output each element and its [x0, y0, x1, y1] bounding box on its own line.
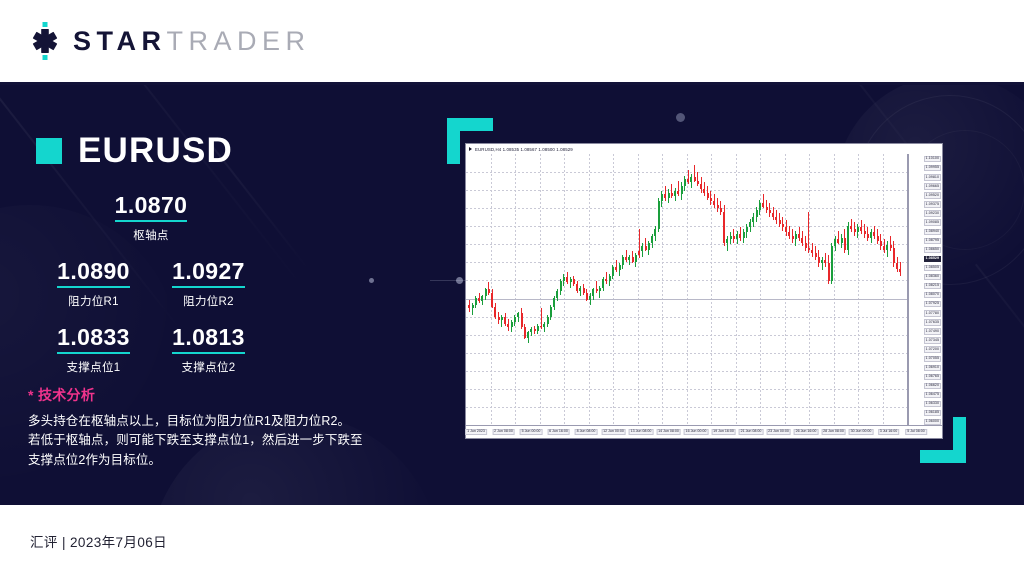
candlestick: [870, 154, 872, 425]
candlestick-body: [602, 279, 604, 288]
candlestick-body: [759, 203, 761, 210]
candlestick: [468, 154, 470, 425]
chart-price-tick: 1.08215: [924, 283, 941, 289]
level-support1: 1.0833 支撑点位1: [36, 325, 151, 375]
candlestick: [664, 154, 666, 425]
candlestick: [566, 154, 568, 425]
candlestick: [723, 154, 725, 425]
chart-price-tick: 1.08360: [924, 274, 941, 280]
chart-price-tick: 1.07345: [924, 337, 941, 343]
candlestick: [834, 154, 836, 425]
candlestick: [573, 154, 575, 425]
candlestick-body: [873, 232, 875, 235]
candlestick: [775, 154, 777, 425]
candlestick-body: [694, 177, 696, 180]
candlestick-body: [605, 279, 607, 281]
candlestick-body: [521, 313, 523, 327]
candlestick-body: [609, 276, 611, 281]
page-header: STARTRADER: [0, 0, 1024, 82]
candlestick-body: [641, 246, 643, 251]
candlestick-body: [730, 236, 732, 239]
candlestick: [498, 154, 500, 425]
candlestick-body: [837, 239, 839, 242]
candlestick: [625, 154, 627, 425]
level-resistance1: 1.0890 阻力位R1: [36, 259, 151, 309]
candlestick: [570, 154, 572, 425]
candlestick-body: [749, 222, 751, 227]
candlestick-body: [847, 226, 849, 250]
candlestick-body: [674, 191, 676, 196]
candlestick: [534, 154, 536, 425]
candlestick: [622, 154, 624, 425]
candlestick-body: [854, 229, 856, 232]
brand-logo[interactable]: STARTRADER: [28, 22, 311, 60]
candlestick: [579, 154, 581, 425]
candlestick: [677, 154, 679, 425]
candlestick: [854, 154, 856, 425]
price-chart[interactable]: EURUSD,H4 1.08535 1.08567 1.08500 1.0852…: [465, 143, 943, 439]
candlestick: [638, 154, 640, 425]
chart-price-tick: 1.10100: [924, 156, 941, 162]
level-resistance1-label: 阻力位R1: [36, 293, 151, 309]
candlestick-body: [481, 296, 483, 301]
candlestick-body: [834, 239, 836, 246]
page-title: EURUSD: [78, 133, 233, 168]
candlestick: [697, 154, 699, 425]
candlestick-body: [635, 255, 637, 262]
candlestick: [481, 154, 483, 425]
chart-time-tick: 8 Jun 08:00: [575, 429, 598, 435]
candlestick: [831, 154, 833, 425]
candlestick-body: [563, 277, 565, 280]
candlestick: [641, 154, 643, 425]
candlestick: [661, 154, 663, 425]
candlestick-body: [769, 210, 771, 213]
candlestick: [684, 154, 686, 425]
candlestick: [609, 154, 611, 425]
chart-time-tick: 23 Jun 00:00: [766, 429, 791, 435]
candlestick-body: [736, 234, 738, 239]
candlestick-body: [792, 236, 794, 239]
candlestick: [475, 154, 477, 425]
pivot-levels-panel: 1.0870 枢轴点 1.0890 阻力位R1 1.0927 阻力位R2 1.0…: [36, 193, 266, 391]
candlestick: [491, 154, 493, 425]
chart-time-tick: 6 Jun 16:00: [547, 429, 570, 435]
content-stage: EURUSD 1.0870 枢轴点 1.0890 阻力位R1 1.0927 阻力…: [0, 85, 1024, 505]
candlestick: [808, 154, 810, 425]
candlestick: [867, 154, 869, 425]
candlestick-body: [668, 193, 670, 198]
analysis-heading: * 技术分析: [28, 385, 408, 405]
candlestick-body: [821, 260, 823, 263]
candlestick-body: [860, 227, 862, 230]
candlestick: [560, 154, 562, 425]
chart-time-tick: 1 Jun 2023: [465, 429, 487, 435]
chart-title-text: EURUSD,H4 1.08535 1.08567 1.08500 1.0852…: [475, 147, 573, 152]
candlestick: [517, 154, 519, 425]
candlestick: [514, 154, 516, 425]
candlestick-body: [743, 232, 745, 237]
candlestick-body: [857, 227, 859, 232]
candlestick: [864, 154, 866, 425]
candlestick-body: [752, 217, 754, 222]
candlestick-body: [648, 243, 650, 250]
candlestick: [635, 154, 637, 425]
candlestick: [815, 154, 817, 425]
candlestick-body: [795, 234, 797, 239]
candlestick: [612, 154, 614, 425]
candlestick: [893, 154, 895, 425]
candlestick-body: [527, 332, 529, 337]
candlestick-body: [615, 267, 617, 270]
candlestick-body: [612, 267, 614, 276]
chart-time-axis[interactable]: 1 Jun 20232 Jun 08:005 Jun 00:006 Jun 16…: [466, 425, 942, 438]
chart-price-tick: 1.09230: [924, 210, 941, 216]
candlestick: [605, 154, 607, 425]
chart-time-tick: 12 Jun 00:00: [601, 429, 626, 435]
candlestick: [769, 154, 771, 425]
candlestick-body: [517, 313, 519, 316]
candlestick-body: [488, 289, 490, 292]
candlestick: [739, 154, 741, 425]
candlestick: [772, 154, 774, 425]
candlestick: [841, 154, 843, 425]
candlestick: [478, 154, 480, 425]
candlestick-body: [576, 284, 578, 291]
candlestick: [690, 154, 692, 425]
candlestick: [717, 154, 719, 425]
level-support1-label: 支撑点位1: [36, 359, 151, 375]
chart-price-tick: 1.08940: [924, 229, 941, 235]
candlestick-body: [775, 217, 777, 220]
candlestick: [472, 154, 474, 425]
candlestick-body: [651, 236, 653, 243]
candlestick-body: [700, 184, 702, 189]
candlestick-body: [805, 243, 807, 248]
candlestick: [592, 154, 594, 425]
candlestick: [485, 154, 487, 425]
instrument-title-row: EURUSD: [36, 133, 233, 168]
candlestick-body: [645, 246, 647, 249]
candlestick-body: [717, 205, 719, 208]
chart-price-tick: 1.07925: [924, 301, 941, 307]
level-support2-label: 支撑点位2: [151, 359, 266, 375]
chart-price-tick: 1.06330: [924, 401, 941, 407]
candlestick-body: [472, 305, 474, 308]
candlestick: [752, 154, 754, 425]
candlestick-body: [658, 201, 660, 229]
candlestick-body: [478, 298, 480, 301]
candlestick-body: [560, 281, 562, 291]
chart-time-tick: 3 Jul 16:00: [878, 429, 900, 435]
level-support1-value: 1.0833: [57, 325, 130, 354]
candlestick: [507, 154, 509, 425]
candlestick-body: [632, 257, 634, 262]
candlestick-body: [514, 317, 516, 322]
candlestick: [628, 154, 630, 425]
candlestick: [586, 154, 588, 425]
chart-price-tick: 1.09085: [924, 219, 941, 225]
candlestick-body: [504, 317, 506, 324]
candlestick-body: [808, 248, 810, 250]
candlestick: [596, 154, 598, 425]
chart-time-tick: 26 Jun 16:00: [794, 429, 819, 435]
candlestick-body: [583, 288, 585, 293]
candlestick-body: [893, 248, 895, 264]
candlestick: [877, 154, 879, 425]
chart-price-tick: 1.08070: [924, 292, 941, 298]
candlestick-body: [828, 263, 830, 280]
candlestick-body: [507, 324, 509, 327]
candlestick: [857, 154, 859, 425]
chart-time-tick: 2 Jun 08:00: [492, 429, 515, 435]
chart-current-price-tag: 1.08529: [924, 256, 941, 262]
candlestick: [713, 154, 715, 425]
brand-wordmark: STARTRADER: [73, 28, 311, 55]
candlestick-body: [690, 177, 692, 182]
candlestick: [527, 154, 529, 425]
chart-price-tick: 1.07055: [924, 356, 941, 362]
candlestick: [563, 154, 565, 425]
chart-price-tick: 1.09955: [924, 165, 941, 171]
candlestick-body: [785, 227, 787, 232]
candlestick-body: [498, 317, 500, 320]
level-pivot-value: 1.0870: [115, 193, 188, 222]
level-support2: 1.0813 支撑点位2: [151, 325, 266, 375]
chart-price-axis[interactable]: 1.101001.099551.098101.096651.095201.093…: [908, 154, 942, 425]
candlestick: [619, 154, 621, 425]
candlestick-body: [788, 232, 790, 235]
candlestick: [844, 154, 846, 425]
candlestick: [674, 154, 676, 425]
candlestick-body: [762, 203, 764, 206]
candlestick: [648, 154, 650, 425]
analysis-line-3: 支撑点位2作为目标位。: [28, 451, 408, 470]
chart-time-tick: 19 Jun 16:00: [711, 429, 736, 435]
candlestick-body: [733, 236, 735, 239]
candlestick: [537, 154, 539, 425]
candlestick-body: [494, 307, 496, 317]
candlestick-body: [547, 317, 549, 324]
candlestick-body: [579, 288, 581, 291]
chart-time-tick: 21 Jun 08:00: [739, 429, 764, 435]
candlestick-body: [886, 245, 888, 250]
candlestick: [798, 154, 800, 425]
candlestick-body: [573, 279, 575, 284]
chart-plot-area[interactable]: [466, 154, 908, 425]
candlestick: [671, 154, 673, 425]
candlestick: [821, 154, 823, 425]
candlestick-body: [534, 329, 536, 331]
level-support2-value: 1.0813: [172, 325, 245, 354]
candlestick-body: [844, 238, 846, 250]
candlestick-body: [726, 239, 728, 242]
candlestick: [681, 154, 683, 425]
candlestick: [880, 154, 882, 425]
candlestick-body: [570, 279, 572, 282]
candlestick: [788, 154, 790, 425]
candlestick: [668, 154, 670, 425]
page-footer: 汇评 | 2023年7月06日: [0, 505, 1024, 576]
analysis-line-1: 多头持仓在枢轴点以上，目标位为阻力位R1及阻力位R2。: [28, 412, 408, 431]
chart-symbol-triangle-icon: [469, 147, 472, 151]
chart-price-tick: 1.07490: [924, 328, 941, 334]
candlestick-body: [870, 232, 872, 237]
candlestick: [524, 154, 526, 425]
candlestick-body: [779, 220, 781, 223]
candlestick: [890, 154, 892, 425]
candlestick-body: [818, 257, 820, 264]
candlestick-body: [684, 179, 686, 186]
candlestick-body: [664, 194, 666, 197]
candlestick-body: [511, 322, 513, 327]
level-pivot: 1.0870 枢轴点: [36, 193, 266, 243]
candlestick: [792, 154, 794, 425]
candlestick: [703, 154, 705, 425]
candlestick-body: [625, 257, 627, 260]
candlestick: [886, 154, 888, 425]
candlestick-body: [880, 241, 882, 246]
candlestick-body: [599, 288, 601, 291]
candlestick: [632, 154, 634, 425]
candlestick: [837, 154, 839, 425]
candlestick-body: [540, 326, 542, 328]
candlestick-body: [782, 224, 784, 227]
chart-price-tick: 1.09375: [924, 201, 941, 207]
chart-time-tick: 14 Jun 08:00: [656, 429, 681, 435]
candlestick-body: [485, 289, 487, 296]
candlestick: [501, 154, 503, 425]
candlestick: [730, 154, 732, 425]
candlestick-body: [475, 298, 477, 305]
candlestick: [547, 154, 549, 425]
candlestick-body: [654, 229, 656, 236]
candlestick: [543, 154, 545, 425]
candlestick: [530, 154, 532, 425]
candlestick: [556, 154, 558, 425]
candlestick-body: [687, 179, 689, 182]
candlestick: [811, 154, 813, 425]
accent-square-icon: [36, 138, 62, 164]
candlestick: [599, 154, 601, 425]
candlestick-body: [772, 213, 774, 216]
candlestick-body: [841, 238, 843, 243]
slide-canvas: STARTRADER EURUSD: [0, 0, 1024, 576]
candlestick: [550, 154, 552, 425]
candlestick-body: [501, 317, 503, 320]
candlestick-wick: [822, 257, 823, 271]
candlestick: [521, 154, 523, 425]
candlestick-body: [890, 245, 892, 248]
candlestick: [645, 154, 647, 425]
chart-title-bar: EURUSD,H4 1.08535 1.08567 1.08500 1.0852…: [466, 144, 942, 154]
candlestick-body: [619, 265, 621, 270]
candlestick: [782, 154, 784, 425]
technical-analysis-block: * 技术分析 多头持仓在枢轴点以上，目标位为阻力位R1及阻力位R2。 若低于枢轴…: [28, 385, 408, 470]
chart-time-tick: 5 Jun 00:00: [520, 429, 543, 435]
chart-price-tick: 1.06185: [924, 410, 941, 416]
chart-price-tick: 1.08650: [924, 247, 941, 253]
candlestick: [746, 154, 748, 425]
candlestick: [720, 154, 722, 425]
candlestick: [818, 154, 820, 425]
chart-time-tick: 28 Jun 08:00: [821, 429, 846, 435]
candlestick-body: [556, 291, 558, 298]
candlestick-body: [638, 251, 640, 254]
chart-price-tick: 1.09665: [924, 183, 941, 189]
candlestick-body: [883, 246, 885, 249]
candlestick: [511, 154, 513, 425]
candlestick: [602, 154, 604, 425]
candlestick-body: [566, 277, 568, 282]
level-pivot-label: 枢轴点: [36, 227, 266, 243]
candlestick: [873, 154, 875, 425]
candlestick: [828, 154, 830, 425]
candlestick: [488, 154, 490, 425]
candlestick: [687, 154, 689, 425]
candlestick: [850, 154, 852, 425]
candlestick-body: [801, 238, 803, 243]
candlestick-body: [592, 289, 594, 296]
candlestick: [576, 154, 578, 425]
chart-price-tick: 1.08505: [924, 265, 941, 271]
candlestick-body: [697, 181, 699, 184]
candlestick: [743, 154, 745, 425]
candlestick-body: [713, 201, 715, 204]
candlestick: [654, 154, 656, 425]
brand-name-primary: STAR: [73, 26, 167, 56]
candlestick: [899, 154, 901, 425]
candlestick-body: [491, 293, 493, 307]
footer-caption: 汇评 | 2023年7月06日: [30, 531, 167, 551]
chart-time-tick: 30 Jun 00:00: [849, 429, 874, 435]
candlestick: [700, 154, 702, 425]
candlestick-body: [710, 198, 712, 201]
candlestick-body: [746, 227, 748, 232]
candlestick: [749, 154, 751, 425]
candlestick: [494, 154, 496, 425]
candlestick: [756, 154, 758, 425]
candlestick: [504, 154, 506, 425]
candlestick: [583, 154, 585, 425]
chart-price-tick: 1.09520: [924, 192, 941, 198]
chart-time-tick: 13 Jun 08:00: [629, 429, 654, 435]
chart-time-tick: 5 Jul 08:00: [905, 429, 927, 435]
candlestick: [589, 154, 591, 425]
candlestick-body: [811, 250, 813, 253]
candlestick: [553, 154, 555, 425]
chart-price-tick: 1.06620: [924, 383, 941, 389]
candlestick-body: [543, 324, 545, 327]
candlestick-body: [899, 269, 901, 272]
candlestick-body: [677, 191, 679, 194]
candlestick-body: [824, 260, 826, 263]
level-resistance2: 1.0927 阻力位R2: [151, 259, 266, 309]
candlestick: [759, 154, 761, 425]
brand-name-secondary: TRADER: [167, 26, 311, 56]
candlestick-body: [622, 257, 624, 266]
candlestick: [766, 154, 768, 425]
candlestick-body: [867, 234, 869, 237]
candlestick-body: [524, 327, 526, 337]
candlestick-wick: [808, 212, 809, 253]
candlestick-body: [586, 293, 588, 300]
candlestick-body: [756, 210, 758, 217]
star-asterisk-icon: [28, 22, 62, 60]
chart-price-tick: 1.06475: [924, 392, 941, 398]
candlestick: [694, 154, 696, 425]
candlestick: [795, 154, 797, 425]
